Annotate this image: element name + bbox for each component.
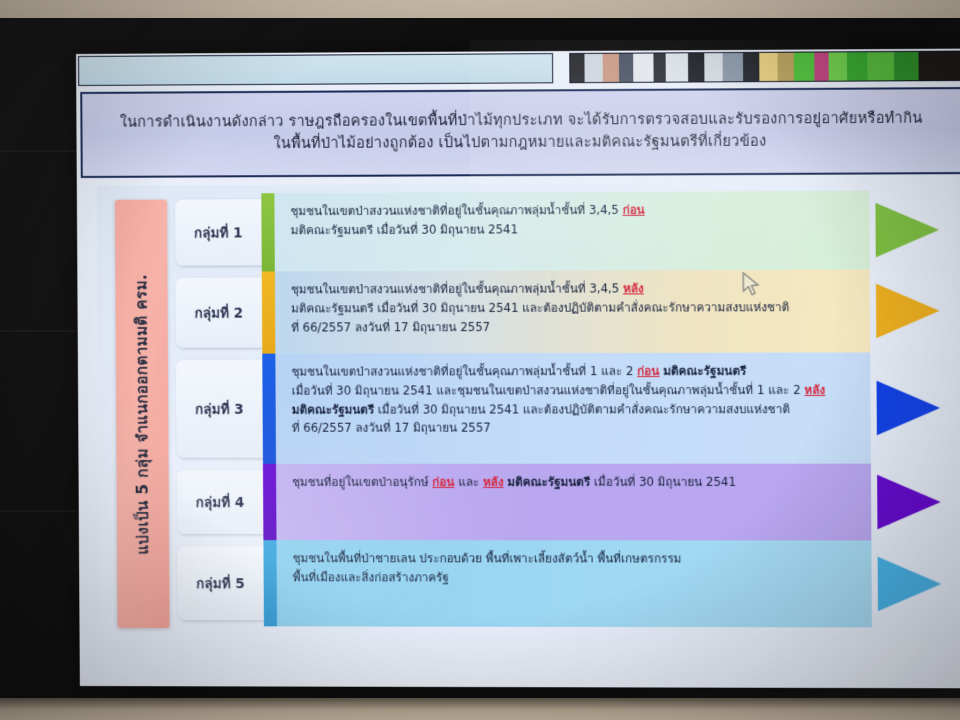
group-description: ชุมชนที่อยู่ในเขตป่าอนุรักษ์ ก่อน และ หล… [276, 464, 871, 541]
headline-line-1: ในการดำเนินงานดังกล่าว ราษฎรถือครองในเขต… [120, 109, 923, 135]
group-row: กลุ่มที่ 5ชุมชนในพื้นที่ป่าชายเลน ประกอบ… [177, 540, 952, 627]
group-rows: กลุ่มที่ 1ชุมชนในเขตป่าสงวนแห่งชาติที่อย… [175, 190, 952, 633]
slide-body: แบ่งเป็น 5 กลุ่ม จำแนกออกตามมติ ครม. กลุ… [97, 182, 956, 641]
group-description-line: เมื่อวันที่ 30 มิถุนายน 2541 และชุมชนในเ… [292, 381, 857, 401]
group-label-text: กลุ่มที่ 2 [195, 302, 244, 324]
group-label-text: กลุ่มที่ 4 [196, 491, 245, 513]
group-color-bar [261, 193, 275, 271]
group-label-text: กลุ่มที่ 3 [195, 398, 244, 420]
group-row: กลุ่มที่ 3ชุมชนในเขตป่าสงวนแห่งชาติที่อย… [176, 352, 951, 464]
group-color-bar [262, 271, 276, 353]
group-color-bar [263, 464, 277, 540]
group-row: กลุ่มที่ 2ชุมชนในเขตป่าสงวนแห่งชาติที่อย… [175, 269, 950, 354]
group-description-line: ชุมชนในเขตป่าสงวนแห่งชาติที่อยู่ในชั้นคุ… [290, 200, 855, 221]
group-description-line: มติคณะรัฐมนตรี เมื่อวันที่ 30 มิถุนายน 2… [291, 298, 856, 318]
group-label-text: กลุ่มที่ 1 [194, 221, 243, 243]
group-row: กลุ่มที่ 1ชุมชนในเขตป่าสงวนแห่งชาติที่อย… [175, 190, 950, 271]
slide-headline: ในการดำเนินงานดังกล่าว ราษฎรถือครองในเขต… [80, 87, 960, 178]
group-description: ชุมชนในพื้นที่ป่าชายเลน ประกอบด้วย พื้นท… [276, 540, 871, 627]
side-banner-label: แบ่งเป็น 5 กลุ่ม จำแนกออกตามมติ ครม. [129, 273, 155, 554]
headline-line-2: ในพื้นที่ป่าไม้อย่างถูกต้อง เป็นไปตามกฎห… [273, 132, 766, 156]
slide-top-strip [78, 51, 960, 86]
group-label-chip-5[interactable]: กลุ่มที่ 5 [177, 546, 264, 620]
photographed-screen: ในการดำเนินงานดังกล่าว ราษฎรถือครองในเขต… [0, 0, 960, 720]
group-description-line: ชุมชนในเขตป่าสงวนแห่งชาติที่อยู่ในชั้นคุ… [291, 362, 856, 382]
group-label-text: กลุ่มที่ 5 [196, 572, 245, 594]
group-label-chip-3[interactable]: กลุ่มที่ 3 [176, 360, 263, 458]
bezel-seam [0, 330, 76, 332]
top-strip-photo-band [569, 51, 960, 84]
side-banner: แบ่งเป็น 5 กลุ่ม จำแนกออกตามมติ ครม. [115, 200, 170, 629]
group-description: ชุมชนในเขตป่าสงวนแห่งชาติที่อยู่ในชั้นคุ… [275, 352, 871, 463]
group-description-line: พื้นที่เมืองและสิ่งก่อสร้างภาครัฐ [293, 568, 858, 588]
group-description: ชุมชนในเขตป่าสงวนแห่งชาติที่อยู่ในชั้นคุ… [275, 270, 870, 354]
group-description-line: ชุมชนในพื้นที่ป่าชายเลน ประกอบด้วย พื้นท… [293, 549, 858, 568]
presentation-slide: ในการดำเนินงานดังกล่าว ราษฎรถือครองในเขต… [76, 49, 960, 689]
mouse-pointer-icon [741, 272, 762, 298]
bezel-seam [0, 150, 76, 152]
group-description-line: ที่ 66/2557 ลงวันที่ 17 มิถุนายน 2557 [291, 317, 856, 337]
group-label-chip-4[interactable]: กลุ่มที่ 4 [177, 470, 264, 534]
group-color-bar [263, 540, 277, 626]
surface-below-screen [0, 698, 960, 720]
group-color-bar [262, 354, 276, 464]
group-description: ชุมชนในเขตป่าสงวนแห่งชาติที่อยู่ในชั้นคุ… [274, 191, 869, 272]
group-description-line: มติคณะรัฐมนตรี เมื่อวันที่ 30 มิถุนายน 2… [291, 219, 856, 240]
group-description-line: ที่ 66/2557 ลงวันที่ 17 มิถุนายน 2557 [292, 418, 857, 437]
group-label-chip-2[interactable]: กลุ่มที่ 2 [175, 277, 262, 347]
top-strip-blank-band [78, 53, 553, 86]
group-description-line: ชุมชนที่อยู่ในเขตป่าอนุรักษ์ ก่อน และ หล… [292, 473, 857, 492]
group-row: กลุ่มที่ 4ชุมชนที่อยู่ในเขตป่าอนุรักษ์ ก… [177, 464, 952, 541]
group-description-line: มติคณะรัฐมนตรี เมื่อวันที่ 30 มิถุนายน 2… [292, 400, 857, 420]
group-description-line: ชุมชนในเขตป่าสงวนแห่งชาติที่อยู่ในชั้นคุ… [291, 279, 856, 300]
group-label-chip-1[interactable]: กลุ่มที่ 1 [175, 199, 262, 265]
bezel-seam [0, 510, 76, 512]
